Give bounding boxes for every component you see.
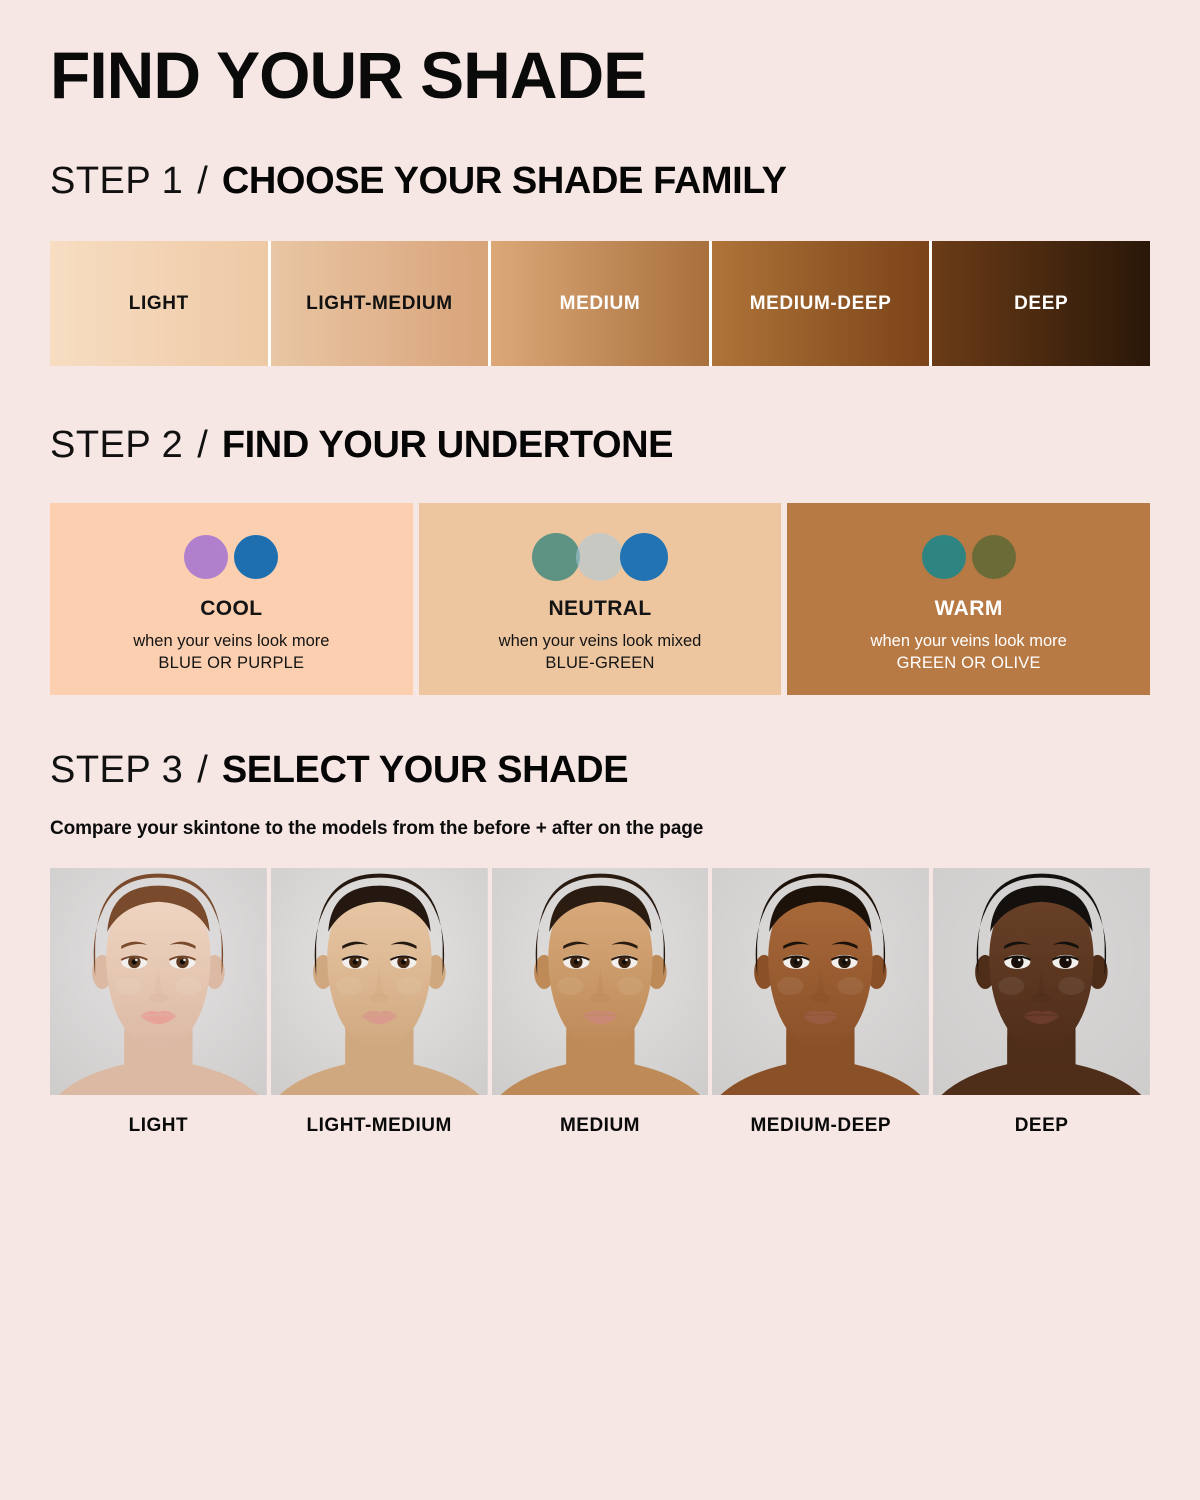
model-photo-row (50, 868, 1150, 1095)
shade-swatch-light[interactable]: LIGHT (50, 241, 271, 366)
model-label: LIGHT-MEDIUM (271, 1115, 488, 1137)
step-2-number: STEP 2 (50, 424, 183, 467)
undertone-dot-2 (972, 535, 1016, 579)
undertone-dot-2 (234, 535, 278, 579)
model-label-row: LIGHTLIGHT-MEDIUMMEDIUMMEDIUM-DEEPDEEP (50, 1115, 1150, 1137)
undertone-card-warm[interactable]: WARMwhen your veins look moreGREEN OR OL… (787, 503, 1150, 695)
model-photo-deep[interactable] (933, 868, 1150, 1095)
find-your-shade-page: FIND YOUR SHADE STEP 1 / CHOOSE YOUR SHA… (0, 0, 1200, 1500)
undertone-dot-2 (576, 533, 624, 581)
model-portrait-graphic (271, 868, 488, 1095)
model-label: DEEP (933, 1115, 1150, 1137)
undertone-card-vein-color: BLUE-GREEN (545, 652, 654, 674)
shade-swatch-light-medium[interactable]: LIGHT-MEDIUM (271, 241, 492, 366)
step-3-number: STEP 3 (50, 749, 183, 792)
step-1-title: CHOOSE YOUR SHADE FAMILY (222, 160, 787, 203)
undertone-dot-1 (922, 535, 966, 579)
undertone-card-vein-color: GREEN OR OLIVE (897, 652, 1041, 674)
shade-swatch-deep[interactable]: DEEP (932, 241, 1150, 366)
step-1-heading: STEP 1 / CHOOSE YOUR SHADE FAMILY (50, 160, 1150, 203)
undertone-swatch-dots (922, 533, 1016, 581)
model-photo-medium-deep[interactable] (712, 868, 929, 1095)
page-title: FIND YOUR SHADE (50, 0, 1150, 108)
step-2-separator: / (183, 424, 222, 467)
model-photo-light[interactable] (50, 868, 267, 1095)
model-label: MEDIUM (492, 1115, 709, 1137)
step-2-title: FIND YOUR UNDERTONE (222, 424, 673, 467)
undertone-dot-1 (532, 533, 580, 581)
model-portrait-graphic (712, 868, 929, 1095)
undertone-card-title: COOL (200, 597, 262, 621)
step-1-separator: / (183, 160, 222, 203)
undertone-card-cool[interactable]: COOLwhen your veins look moreBLUE OR PUR… (50, 503, 413, 695)
step-3-separator: / (183, 749, 222, 792)
step-3-subtitle: Compare your skintone to the models from… (50, 818, 1150, 840)
step-3-heading: STEP 3 / SELECT YOUR SHADE (50, 749, 1150, 792)
undertone-swatch-dots (184, 533, 278, 581)
model-portrait-graphic (933, 868, 1150, 1095)
undertone-swatch-dots (532, 533, 668, 581)
undertone-card-vein-color: BLUE OR PURPLE (158, 652, 304, 674)
shade-swatch-label: LIGHT (129, 293, 189, 315)
model-photo-light-medium[interactable] (271, 868, 488, 1095)
undertone-card-description: when your veins look mixed (499, 631, 702, 652)
undertone-card-description: when your veins look more (133, 631, 329, 652)
shade-swatch-medium-deep[interactable]: MEDIUM-DEEP (712, 241, 933, 366)
shade-family-swatch-bar: LIGHTLIGHT-MEDIUMMEDIUMMEDIUM-DEEPDEEP (50, 241, 1150, 366)
model-label: LIGHT (50, 1115, 267, 1137)
shade-swatch-label: LIGHT-MEDIUM (306, 293, 453, 315)
model-photo-medium[interactable] (492, 868, 709, 1095)
model-portrait-graphic (492, 868, 709, 1095)
shade-swatch-label: MEDIUM-DEEP (750, 293, 892, 315)
undertone-dot-1 (184, 535, 228, 579)
shade-swatch-label: DEEP (1014, 293, 1068, 315)
model-label: MEDIUM-DEEP (712, 1115, 929, 1137)
undertone-card-description: when your veins look more (871, 631, 1067, 652)
undertone-card-neutral[interactable]: NEUTRALwhen your veins look mixedBLUE-GR… (419, 503, 782, 695)
step-3-title: SELECT YOUR SHADE (222, 749, 628, 792)
undertone-card-row: COOLwhen your veins look moreBLUE OR PUR… (50, 503, 1150, 695)
model-portrait-graphic (50, 868, 267, 1095)
shade-swatch-medium[interactable]: MEDIUM (491, 241, 712, 366)
step-1-number: STEP 1 (50, 160, 183, 203)
undertone-dot-3 (620, 533, 668, 581)
undertone-card-title: NEUTRAL (548, 597, 651, 621)
shade-swatch-label: MEDIUM (560, 293, 641, 315)
step-2-heading: STEP 2 / FIND YOUR UNDERTONE (50, 424, 1150, 467)
undertone-card-title: WARM (935, 597, 1003, 621)
